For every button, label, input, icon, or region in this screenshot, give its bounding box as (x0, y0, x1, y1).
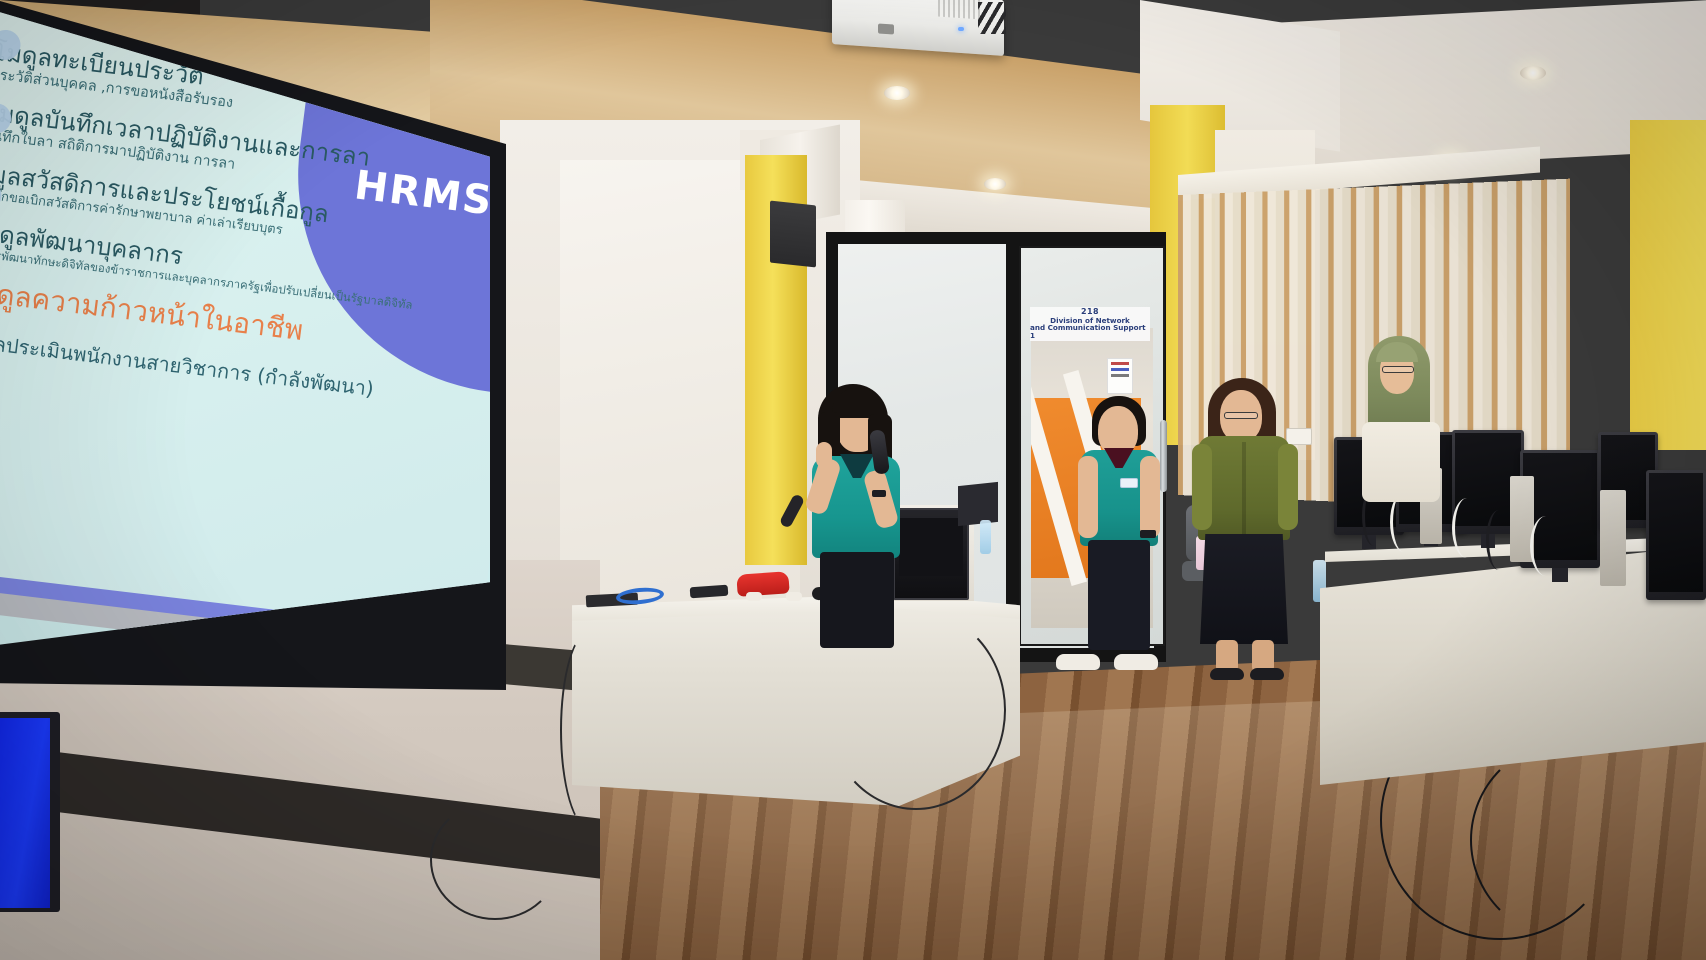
red-telephone[interactable] (736, 571, 789, 597)
downlight-icon (984, 178, 1006, 190)
downlight-icon (884, 86, 910, 100)
floor-cable (1470, 740, 1670, 940)
water-bottle (980, 520, 991, 554)
wall-monitor-no-signal (0, 712, 60, 912)
photo-scene: 218 Division of Network and Communicatio… (0, 0, 1706, 960)
right-arm (1140, 456, 1160, 538)
monitor-cable (1530, 516, 1562, 576)
yellow-wall-far (1630, 120, 1706, 450)
trousers (820, 552, 894, 648)
left-arm (1078, 456, 1098, 538)
floor-cable (560, 630, 620, 830)
pc-tower (1600, 490, 1626, 586)
staff-hijab (1366, 336, 1442, 516)
projector-led-indicator (958, 27, 964, 31)
shoe (1210, 668, 1244, 680)
name-badge (1120, 478, 1138, 488)
staff-olive (1198, 378, 1294, 668)
wristwatch (872, 490, 886, 497)
eyeglasses-icon (1224, 412, 1258, 419)
monitor-cable (1452, 498, 1482, 558)
desk-puck (746, 592, 762, 601)
shoe (1250, 668, 1284, 680)
wall-speaker (770, 201, 816, 268)
jeans (1088, 540, 1150, 650)
door-mullion (1006, 236, 1019, 662)
projector-cables (978, 2, 1006, 34)
projector-lens-icon (878, 23, 894, 34)
right-arm (1278, 444, 1298, 530)
blouse-button-placket (1242, 442, 1246, 534)
laptop[interactable] (958, 482, 998, 526)
monitor-blue-screen (0, 718, 50, 908)
door-transom-bar (1018, 236, 1166, 246)
projector-vent-icon (938, 0, 982, 20)
cream-top (1362, 422, 1440, 502)
floor-cable (430, 800, 560, 920)
black-skirt (1200, 534, 1288, 644)
monitor-screen (1649, 473, 1703, 592)
corridor-notice-poster (1107, 358, 1133, 394)
room-sign-line2: and Communication Support 1 (1030, 324, 1150, 339)
hand-gesture (816, 442, 832, 468)
shoe (1114, 654, 1158, 670)
left-arm (1192, 444, 1212, 530)
desk-puck (786, 592, 802, 601)
wristwatch (1140, 530, 1156, 538)
downlight-icon (1520, 66, 1546, 80)
presenter (806, 384, 916, 664)
room-sign: 218 Division of Network and Communicatio… (1030, 307, 1150, 341)
monitor-cable (1486, 510, 1512, 570)
computer-monitor (1646, 470, 1706, 600)
shoe (1056, 654, 1100, 670)
staff-at-door (1080, 396, 1162, 676)
eyeglasses-icon (1382, 366, 1414, 373)
